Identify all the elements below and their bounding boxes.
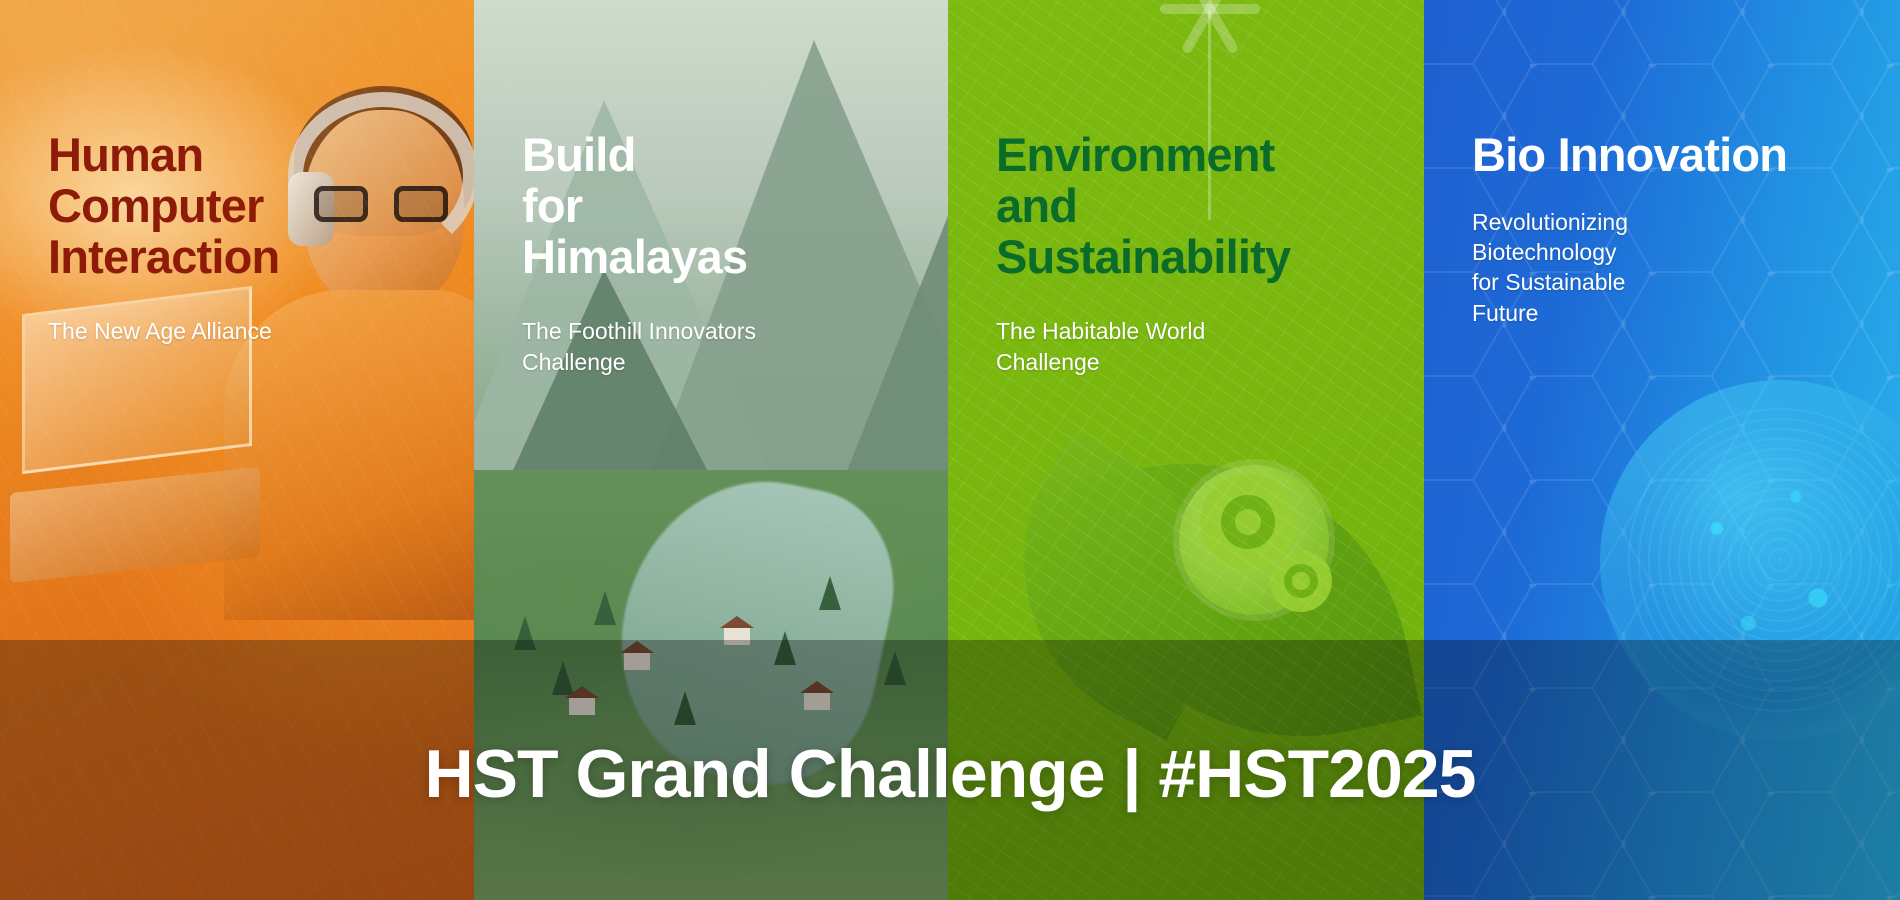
panel-title: Bio Innovation xyxy=(1472,130,1882,181)
bottom-overlay-band: HST Grand Challenge | #HST2025 xyxy=(0,640,1900,900)
panel-title: Environment and Sustainability xyxy=(996,130,1406,282)
panel-subtitle: The Habitable World Challenge xyxy=(996,316,1406,377)
panel-subtitle: Revolutionizing Biotechnology for Sustai… xyxy=(1472,207,1882,328)
lightbulb-icon xyxy=(1179,465,1329,615)
gear-icon xyxy=(1270,550,1332,612)
hst-grand-challenge-banner: Human Computer Interaction The New Age A… xyxy=(0,0,1900,900)
panel-subtitle: The Foothill Innovators Challenge xyxy=(522,316,930,377)
panel-title: Human Computer Interaction xyxy=(48,130,456,282)
panel-title: Build for Himalayas xyxy=(522,130,930,282)
gear-icon xyxy=(1200,474,1296,570)
panel-subtitle: The New Age Alliance xyxy=(48,316,456,346)
banner-headline: HST Grand Challenge | #HST2025 xyxy=(425,735,1476,813)
keyboard-icon xyxy=(10,467,260,583)
